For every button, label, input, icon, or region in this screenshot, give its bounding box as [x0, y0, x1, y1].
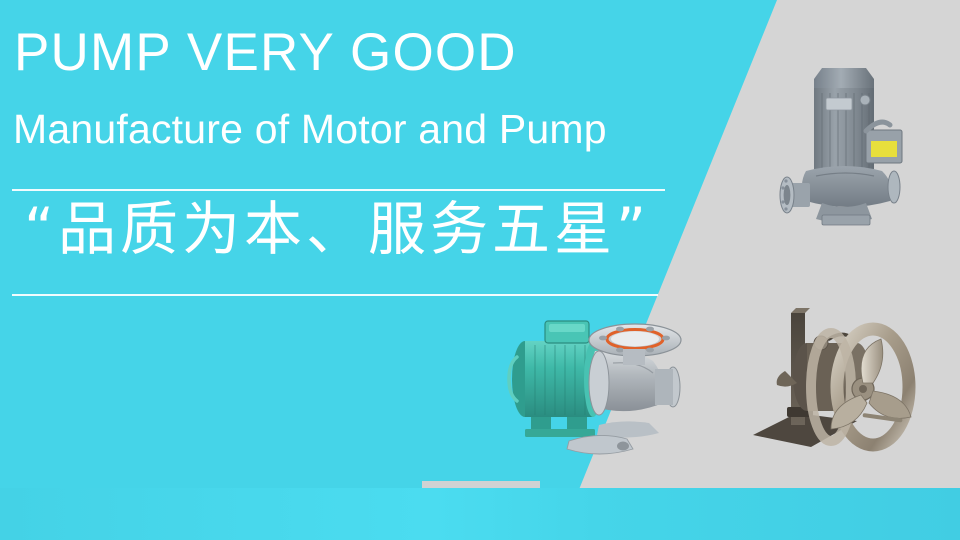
divider-bottom — [12, 294, 658, 296]
suction-bore — [784, 185, 791, 205]
casing-back-plate — [589, 351, 609, 415]
motor-base-rail — [525, 429, 595, 437]
page-title: PUMP VERY GOOD — [14, 25, 517, 81]
product-image-submersible-mixer — [745, 295, 940, 470]
page-subtitle: Manufacture of Motor and Pump — [13, 107, 607, 151]
propeller-center — [859, 385, 867, 393]
motor-nameplate — [826, 98, 852, 110]
divider-top — [12, 189, 665, 191]
motor-foot-right — [567, 417, 587, 431]
pump-casing — [802, 166, 892, 207]
slogan-text: “品质为本、服务五星” — [24, 198, 650, 262]
propeller-blade-1 — [861, 339, 883, 383]
product-image-vertical-inline-pump — [770, 45, 940, 235]
discharge-neck — [623, 349, 645, 365]
discharge-flange — [888, 171, 900, 203]
suction-neck — [655, 369, 673, 405]
terminal-box-lid — [549, 324, 585, 332]
product-image-horizontal-centrifugal-pump — [495, 305, 725, 465]
band-notch — [422, 481, 540, 488]
anchor-hole — [617, 442, 629, 451]
flange-bore — [611, 332, 659, 347]
motor-fan-cover — [860, 95, 870, 105]
motor-top-cap — [814, 68, 874, 90]
promo-banner: PUMP VERY GOOD Manufacture of Motor and … — [0, 0, 960, 540]
post-top — [791, 308, 810, 313]
base-plate — [822, 215, 870, 225]
motor-foot-left — [531, 417, 551, 431]
junction-box-label — [871, 141, 897, 157]
bottom-color-band — [0, 488, 960, 540]
